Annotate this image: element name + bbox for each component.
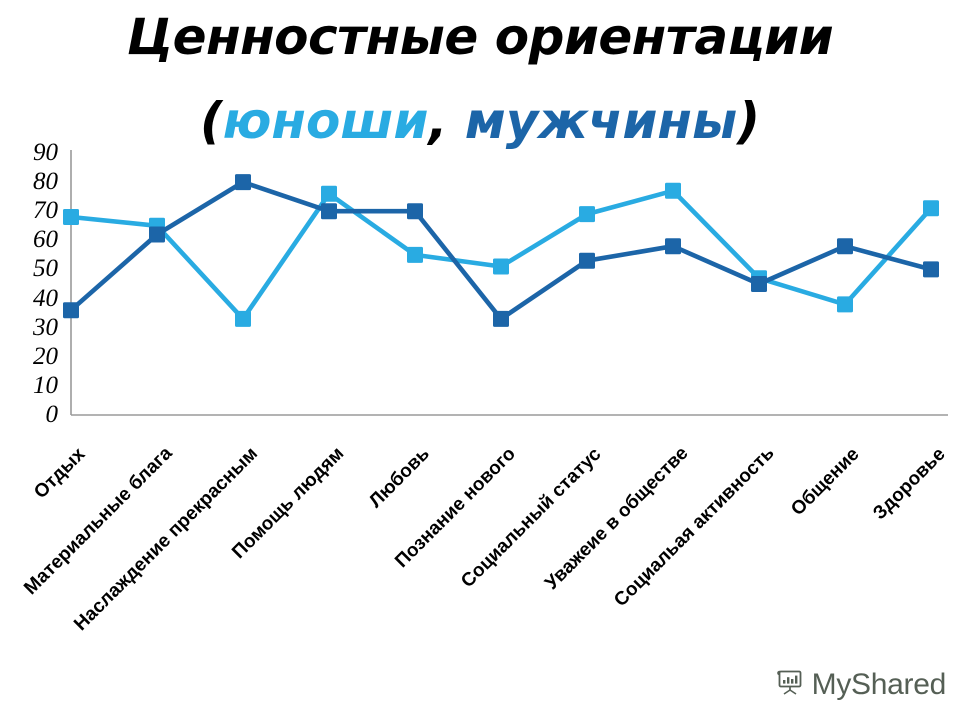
series-layer [63, 174, 939, 327]
data-point-marker[interactable] [923, 200, 939, 216]
data-point-marker[interactable] [579, 253, 595, 269]
data-point-marker[interactable] [321, 203, 337, 219]
data-point-marker[interactable] [837, 296, 853, 312]
x-axis-label-7: Уважеие в обществе [541, 443, 693, 595]
data-point-marker[interactable] [665, 238, 681, 254]
data-point-marker[interactable] [579, 206, 595, 222]
x-axis-label-2: Наслаждение прекрасным [70, 443, 263, 636]
data-point-marker[interactable] [63, 209, 79, 225]
x-axis-label-1: Материальные блага [20, 443, 177, 600]
data-point-marker[interactable] [493, 259, 509, 275]
data-point-marker[interactable] [149, 227, 165, 243]
data-point-marker[interactable] [407, 247, 423, 263]
presentation-chart-icon [775, 667, 805, 702]
series-men [63, 174, 939, 327]
myshared-watermark: MyShared [775, 667, 946, 702]
data-point-marker[interactable] [235, 174, 251, 190]
slide-canvas: Ценностные ориентации (юноши, мужчины) 9… [0, 0, 960, 720]
data-point-marker[interactable] [63, 302, 79, 318]
x-axis-label-6: Социальный статус [458, 444, 607, 593]
data-point-marker[interactable] [493, 311, 509, 327]
data-point-marker[interactable] [321, 186, 337, 202]
watermark-label: MyShared [812, 668, 946, 702]
data-point-marker[interactable] [665, 183, 681, 199]
line-chart-plot [0, 0, 960, 460]
data-point-marker[interactable] [751, 276, 767, 292]
series-line [71, 182, 931, 319]
data-point-marker[interactable] [923, 261, 939, 277]
x-axis-label-8: Социальая активность [610, 443, 779, 612]
data-point-marker[interactable] [837, 238, 853, 254]
data-point-marker[interactable] [235, 311, 251, 327]
data-point-marker[interactable] [407, 203, 423, 219]
series-youths [63, 183, 939, 327]
